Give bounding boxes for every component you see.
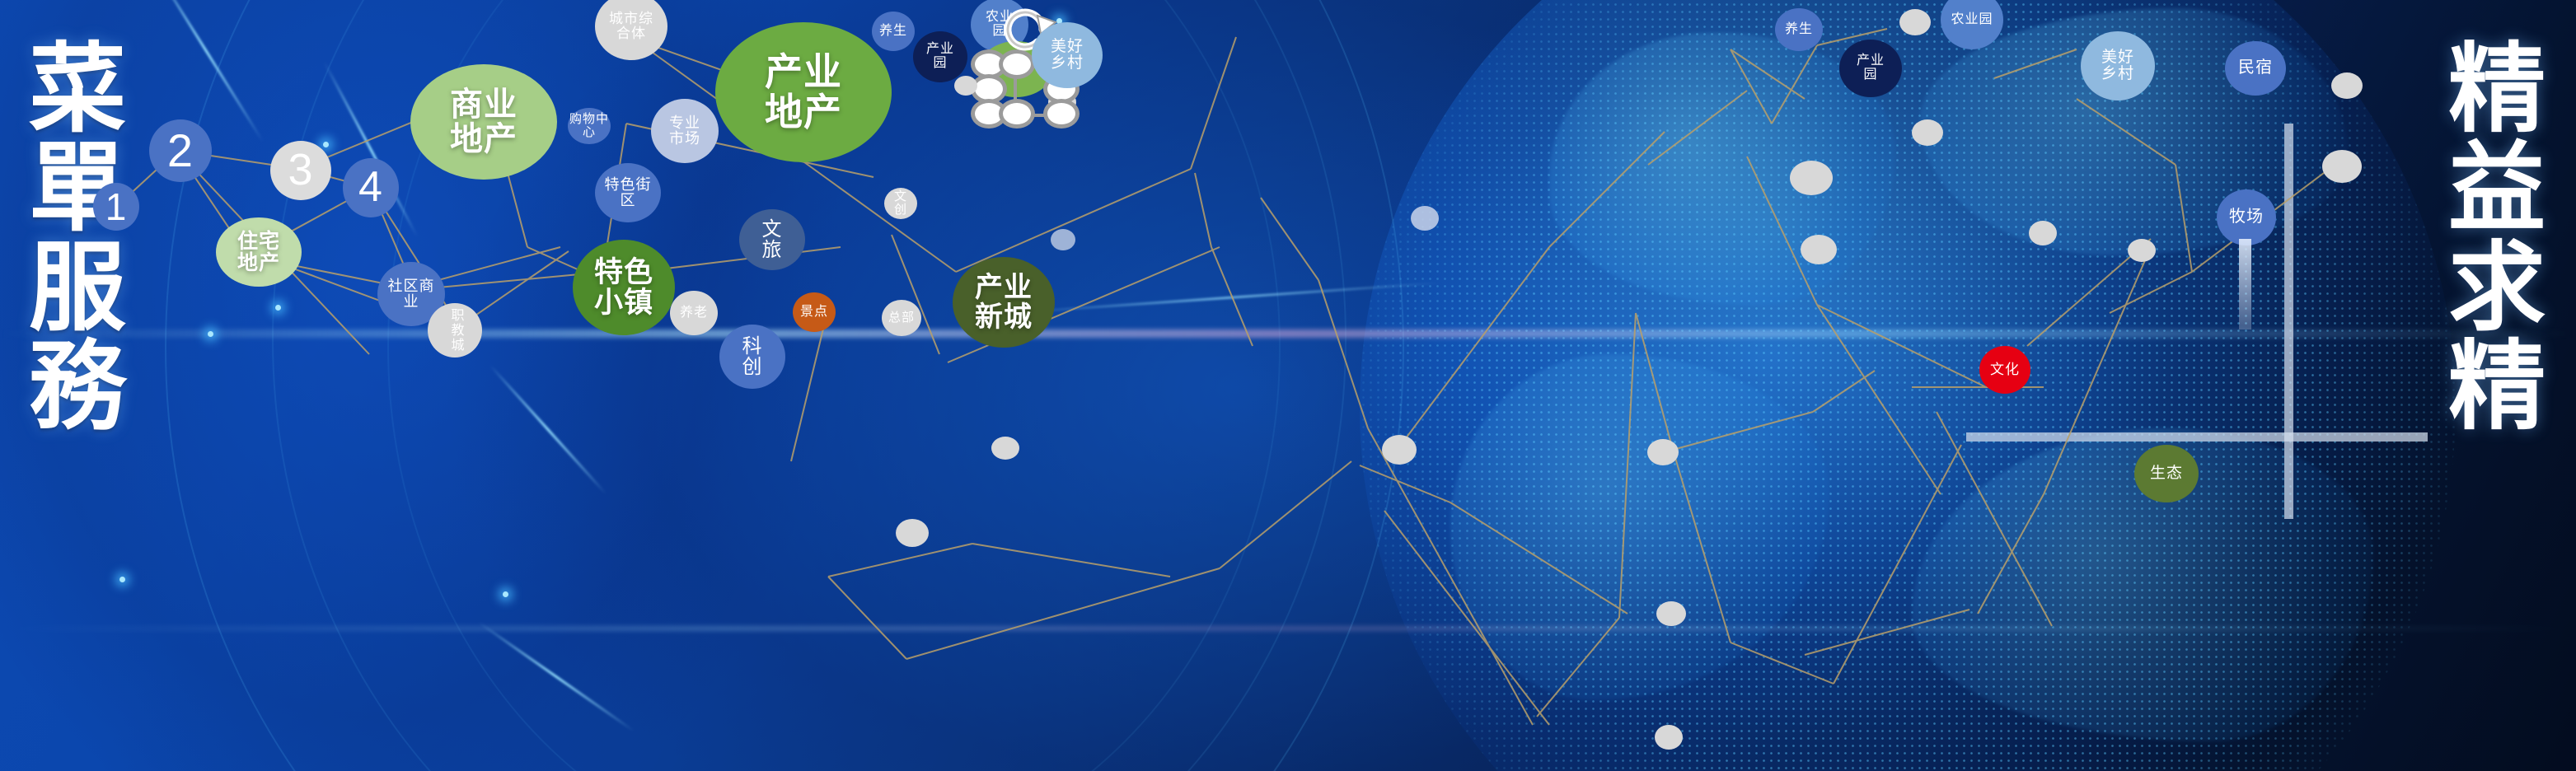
network-dot <box>2331 72 2363 99</box>
bubble-label: 社区商业 <box>386 278 436 310</box>
bubble-label: 生态 <box>2150 465 2183 482</box>
bubble-industrial-realestate[interactable]: 产业 地产 <box>715 22 892 162</box>
bubble-line-1: 商业 <box>450 87 518 122</box>
bubble-residential-realestate[interactable]: 住宅 地产 <box>216 217 302 287</box>
calligraphy-char: 求 <box>2439 240 2555 339</box>
bubble-vocational-city[interactable]: 职教城 <box>428 303 482 357</box>
calligraphy-char: 精 <box>2439 339 2555 437</box>
bubble-label: 民宿 <box>2238 59 2273 77</box>
bubble-label: 城市综合体 <box>607 12 656 41</box>
calligraphy-char: 精 <box>2439 41 2555 140</box>
bubble-homestay[interactable]: 民宿 <box>2225 41 2286 96</box>
bubble-wellness[interactable]: 养生 <box>872 12 915 51</box>
step-node-4[interactable]: 4 <box>343 158 399 217</box>
bubble-elderly-care[interactable]: 养老 <box>670 291 718 335</box>
bubble-ranch[interactable]: 牧场 <box>2217 189 2276 245</box>
bubble-feature-street[interactable]: 特色街区 <box>595 163 661 222</box>
bubble-characteristic-town[interactable]: 特色 小镇 <box>573 240 675 335</box>
bubble-label: 牧场 <box>2229 208 2264 226</box>
bubble-label: 农业园 <box>1951 13 1993 27</box>
right-calligraphy: 精 益 求 精 <box>2439 41 2555 437</box>
bubble-label: 职教城 <box>448 308 462 353</box>
network-dot <box>2029 221 2057 245</box>
bubble-industrial-park-right[interactable]: 产业园 <box>1839 40 1902 97</box>
bubble-wellness-right[interactable]: 养生 <box>1775 8 1823 51</box>
connection-lines <box>0 0 2576 771</box>
calligraphy-char: 菜 <box>20 41 135 140</box>
bubble-line-2: 新城 <box>975 302 1033 332</box>
bubble-professional-market[interactable]: 专业市场 <box>651 99 719 163</box>
bubble-culture-tourism[interactable]: 文旅 <box>739 209 805 270</box>
forest-side-dot <box>954 76 977 96</box>
network-dot <box>1655 725 1683 750</box>
network-dot <box>1790 161 1833 195</box>
bubble-label: 购物中心 <box>569 113 609 139</box>
network-dot <box>1656 601 1686 626</box>
step-node-2-label: 2 <box>167 126 194 175</box>
poster-canvas: 菜 單 服 務 精 益 求 精 1 2 3 4 商业 地产 住宅 地产 特色 小… <box>0 0 2576 771</box>
bubble-ecology[interactable]: 生态 <box>2134 445 2199 502</box>
step-node-3[interactable]: 3 <box>270 141 331 200</box>
bubble-label: 专业市场 <box>662 115 708 147</box>
step-node-2[interactable]: 2 <box>149 119 212 182</box>
bubble-line-2: 地产 <box>237 252 280 274</box>
bubble-line-1: 产业 <box>765 52 842 92</box>
network-dot <box>1647 439 1679 465</box>
bubble-label: 文化 <box>1990 362 2020 377</box>
bubble-commercial-realestate[interactable]: 商业 地产 <box>410 64 557 180</box>
left-calligraphy: 菜 單 服 務 <box>20 41 135 437</box>
bubble-label: 文旅 <box>755 219 789 261</box>
bubble-tech-innovation[interactable]: 科创 <box>719 325 785 389</box>
bubble-scenic-spot[interactable]: 景点 <box>793 292 836 332</box>
bubble-industrial-newcity[interactable]: 产业 新城 <box>953 257 1055 348</box>
bubble-beautiful-countryside[interactable]: 美好乡村 <box>1032 22 1103 88</box>
bubble-cultural-creative[interactable]: 文创 <box>884 188 917 219</box>
network-dot <box>991 437 1019 460</box>
network-dot <box>1051 229 1075 250</box>
bubble-label: 景点 <box>800 306 828 320</box>
network-dot <box>896 519 929 547</box>
bubble-label: 文创 <box>889 190 912 217</box>
step-node-1[interactable]: 1 <box>93 183 139 231</box>
bubble-label: 养生 <box>879 25 907 39</box>
bubble-line-2: 小镇 <box>594 287 653 318</box>
bubble-label: 养生 <box>1785 23 1813 37</box>
bubble-label: 总部 <box>888 311 915 325</box>
forest-node <box>1043 99 1080 128</box>
network-dot <box>1899 9 1931 35</box>
bubble-line-1: 产业 <box>975 273 1033 302</box>
bubble-label: 养老 <box>680 306 708 320</box>
bubble-label: 美好乡村 <box>2094 49 2142 82</box>
step-node-1-label: 1 <box>105 187 128 227</box>
calligraphy-char: 務 <box>20 339 135 437</box>
network-dot <box>1411 206 1439 231</box>
bubble-label: 科创 <box>735 336 770 378</box>
network-dot <box>1912 119 1943 146</box>
bubble-line-1: 特色 <box>594 257 653 287</box>
bubble-label: 美好乡村 <box>1044 39 1090 72</box>
network-dot <box>2128 239 2156 262</box>
bubble-line-2: 地产 <box>450 122 518 157</box>
bubble-line-2: 地产 <box>765 92 842 133</box>
bubble-label: 特色街区 <box>604 177 652 208</box>
bubble-line-1: 住宅 <box>237 231 280 253</box>
network-dot <box>1801 235 1837 264</box>
network-dot <box>2322 150 2362 183</box>
bubble-industrial-park[interactable]: 产业园 <box>913 31 967 82</box>
step-node-3-label: 3 <box>288 147 313 194</box>
calligraphy-char: 服 <box>20 240 135 339</box>
forest-node <box>999 99 1035 128</box>
bubble-label: 产业园 <box>1850 54 1891 82</box>
bubble-headquarters[interactable]: 总部 <box>882 300 921 336</box>
step-node-4-label: 4 <box>358 165 383 210</box>
calligraphy-char: 益 <box>2439 140 2555 239</box>
bubble-shopping-center[interactable]: 购物中心 <box>568 108 611 144</box>
network-dot <box>1382 435 1417 465</box>
bubble-culture[interactable]: 文化 <box>1979 346 2030 394</box>
bubble-label: 产业园 <box>923 43 958 71</box>
bubble-beautiful-countryside-right[interactable]: 美好乡村 <box>2081 31 2155 100</box>
